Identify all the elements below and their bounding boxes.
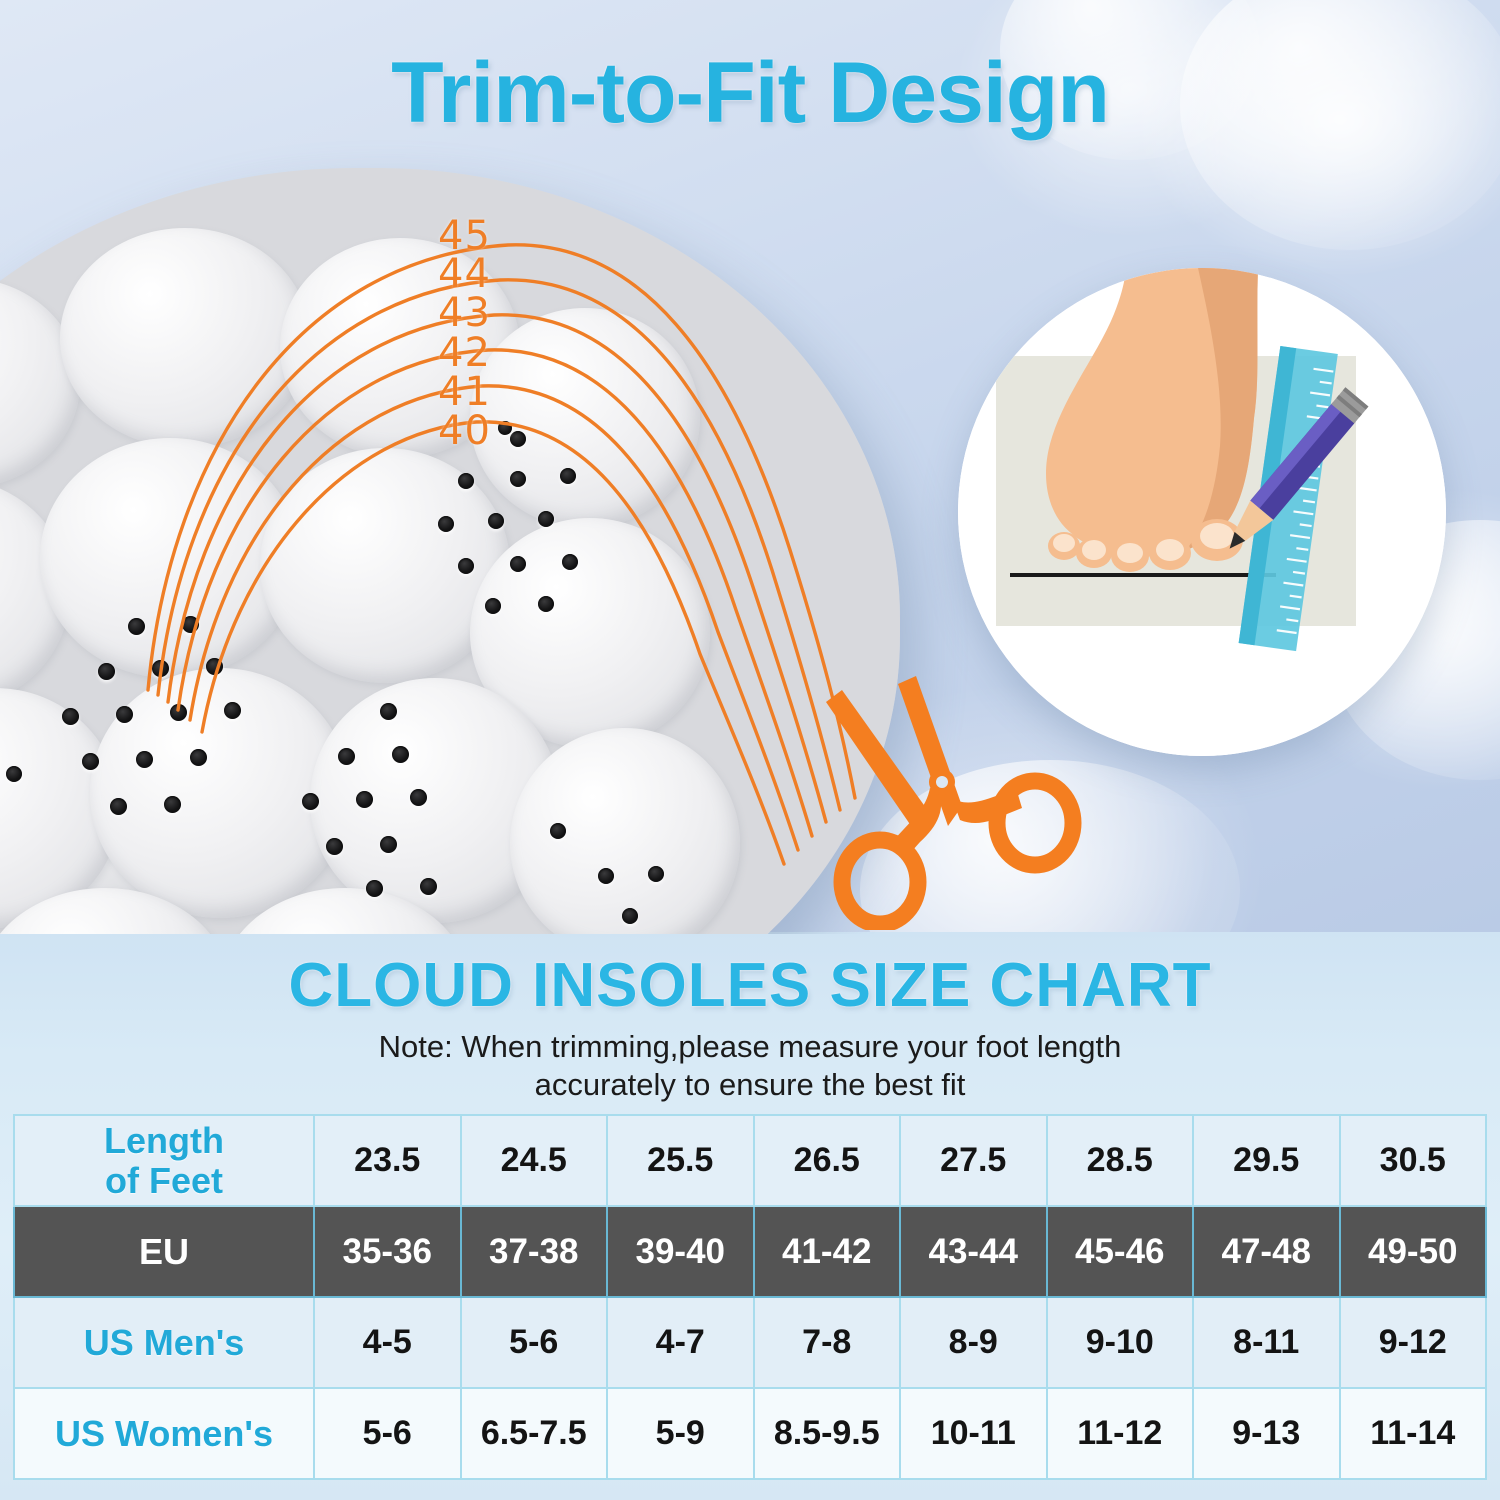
cell-length-1: 24.5	[461, 1115, 608, 1206]
chart-note-line-2: accurately to ensure the best fit	[0, 1066, 1500, 1104]
row-header-line-1: Length	[104, 1120, 224, 1161]
size-chart-panel: CLOUD INSOLES SIZE CHART Note: When trim…	[0, 932, 1500, 1500]
cell-eu-4: 43-44	[900, 1206, 1047, 1297]
cell-women-0: 5-6	[314, 1388, 461, 1479]
row-header-length-of-feet: Length of Feet	[14, 1115, 314, 1206]
cell-length-3: 26.5	[754, 1115, 901, 1206]
cell-men-7: 9-12	[1340, 1297, 1487, 1388]
cell-women-5: 11-12	[1047, 1388, 1194, 1479]
scissors-icon	[820, 630, 1090, 930]
cell-length-5: 28.5	[1047, 1115, 1194, 1206]
cell-men-2: 4-7	[607, 1297, 754, 1388]
row-header-us-mens: US Men's	[14, 1297, 314, 1388]
cell-women-2: 5-9	[607, 1388, 754, 1479]
cell-length-2: 25.5	[607, 1115, 754, 1206]
cell-eu-7: 49-50	[1340, 1206, 1487, 1297]
cell-length-4: 27.5	[900, 1115, 1047, 1206]
chart-title: CLOUD INSOLES SIZE CHART	[0, 950, 1500, 1021]
cell-eu-2: 39-40	[607, 1206, 754, 1297]
hero-panel: Trim-to-Fit Design	[0, 0, 1500, 934]
cell-women-3: 8.5-9.5	[754, 1388, 901, 1479]
row-header-eu: EU	[14, 1206, 314, 1297]
row-header-line-2: of Feet	[105, 1160, 223, 1201]
cell-eu-3: 41-42	[754, 1206, 901, 1297]
cell-eu-0: 35-36	[314, 1206, 461, 1297]
cell-women-7: 11-14	[1340, 1388, 1487, 1479]
cell-men-0: 4-5	[314, 1297, 461, 1388]
page-title: Trim-to-Fit Design	[0, 44, 1500, 143]
table-row-us-mens: US Men's 4-5 5-6 4-7 7-8 8-9 9-10 8-11 9…	[14, 1297, 1486, 1388]
cell-men-5: 9-10	[1047, 1297, 1194, 1388]
cell-eu-6: 47-48	[1193, 1206, 1340, 1297]
chart-note: Note: When trimming,please measure your …	[0, 1028, 1500, 1104]
cell-eu-1: 37-38	[461, 1206, 608, 1297]
infographic-page: Trim-to-Fit Design	[0, 0, 1500, 1500]
cell-women-4: 10-11	[900, 1388, 1047, 1479]
cell-men-1: 5-6	[461, 1297, 608, 1388]
cell-men-3: 7-8	[754, 1297, 901, 1388]
cell-women-6: 9-13	[1193, 1388, 1340, 1479]
cell-men-6: 8-11	[1193, 1297, 1340, 1388]
cell-eu-5: 45-46	[1047, 1206, 1194, 1297]
table-row-length-of-feet: Length of Feet 23.5 24.5 25.5 26.5 27.5 …	[14, 1115, 1486, 1206]
cell-length-0: 23.5	[314, 1115, 461, 1206]
table-row-us-womens: US Women's 5-6 6.5-7.5 5-9 8.5-9.5 10-11…	[14, 1388, 1486, 1479]
table-row-eu: EU 35-36 37-38 39-40 41-42 43-44 45-46 4…	[14, 1206, 1486, 1297]
chart-note-line-1: Note: When trimming,please measure your …	[0, 1028, 1500, 1066]
cell-women-1: 6.5-7.5	[461, 1388, 608, 1479]
cell-length-7: 30.5	[1340, 1115, 1487, 1206]
cell-men-4: 8-9	[900, 1297, 1047, 1388]
insole-size-label-40: 40	[438, 408, 491, 454]
size-chart-table: Length of Feet 23.5 24.5 25.5 26.5 27.5 …	[13, 1114, 1487, 1480]
cell-length-6: 29.5	[1193, 1115, 1340, 1206]
row-header-us-womens: US Women's	[14, 1388, 314, 1479]
